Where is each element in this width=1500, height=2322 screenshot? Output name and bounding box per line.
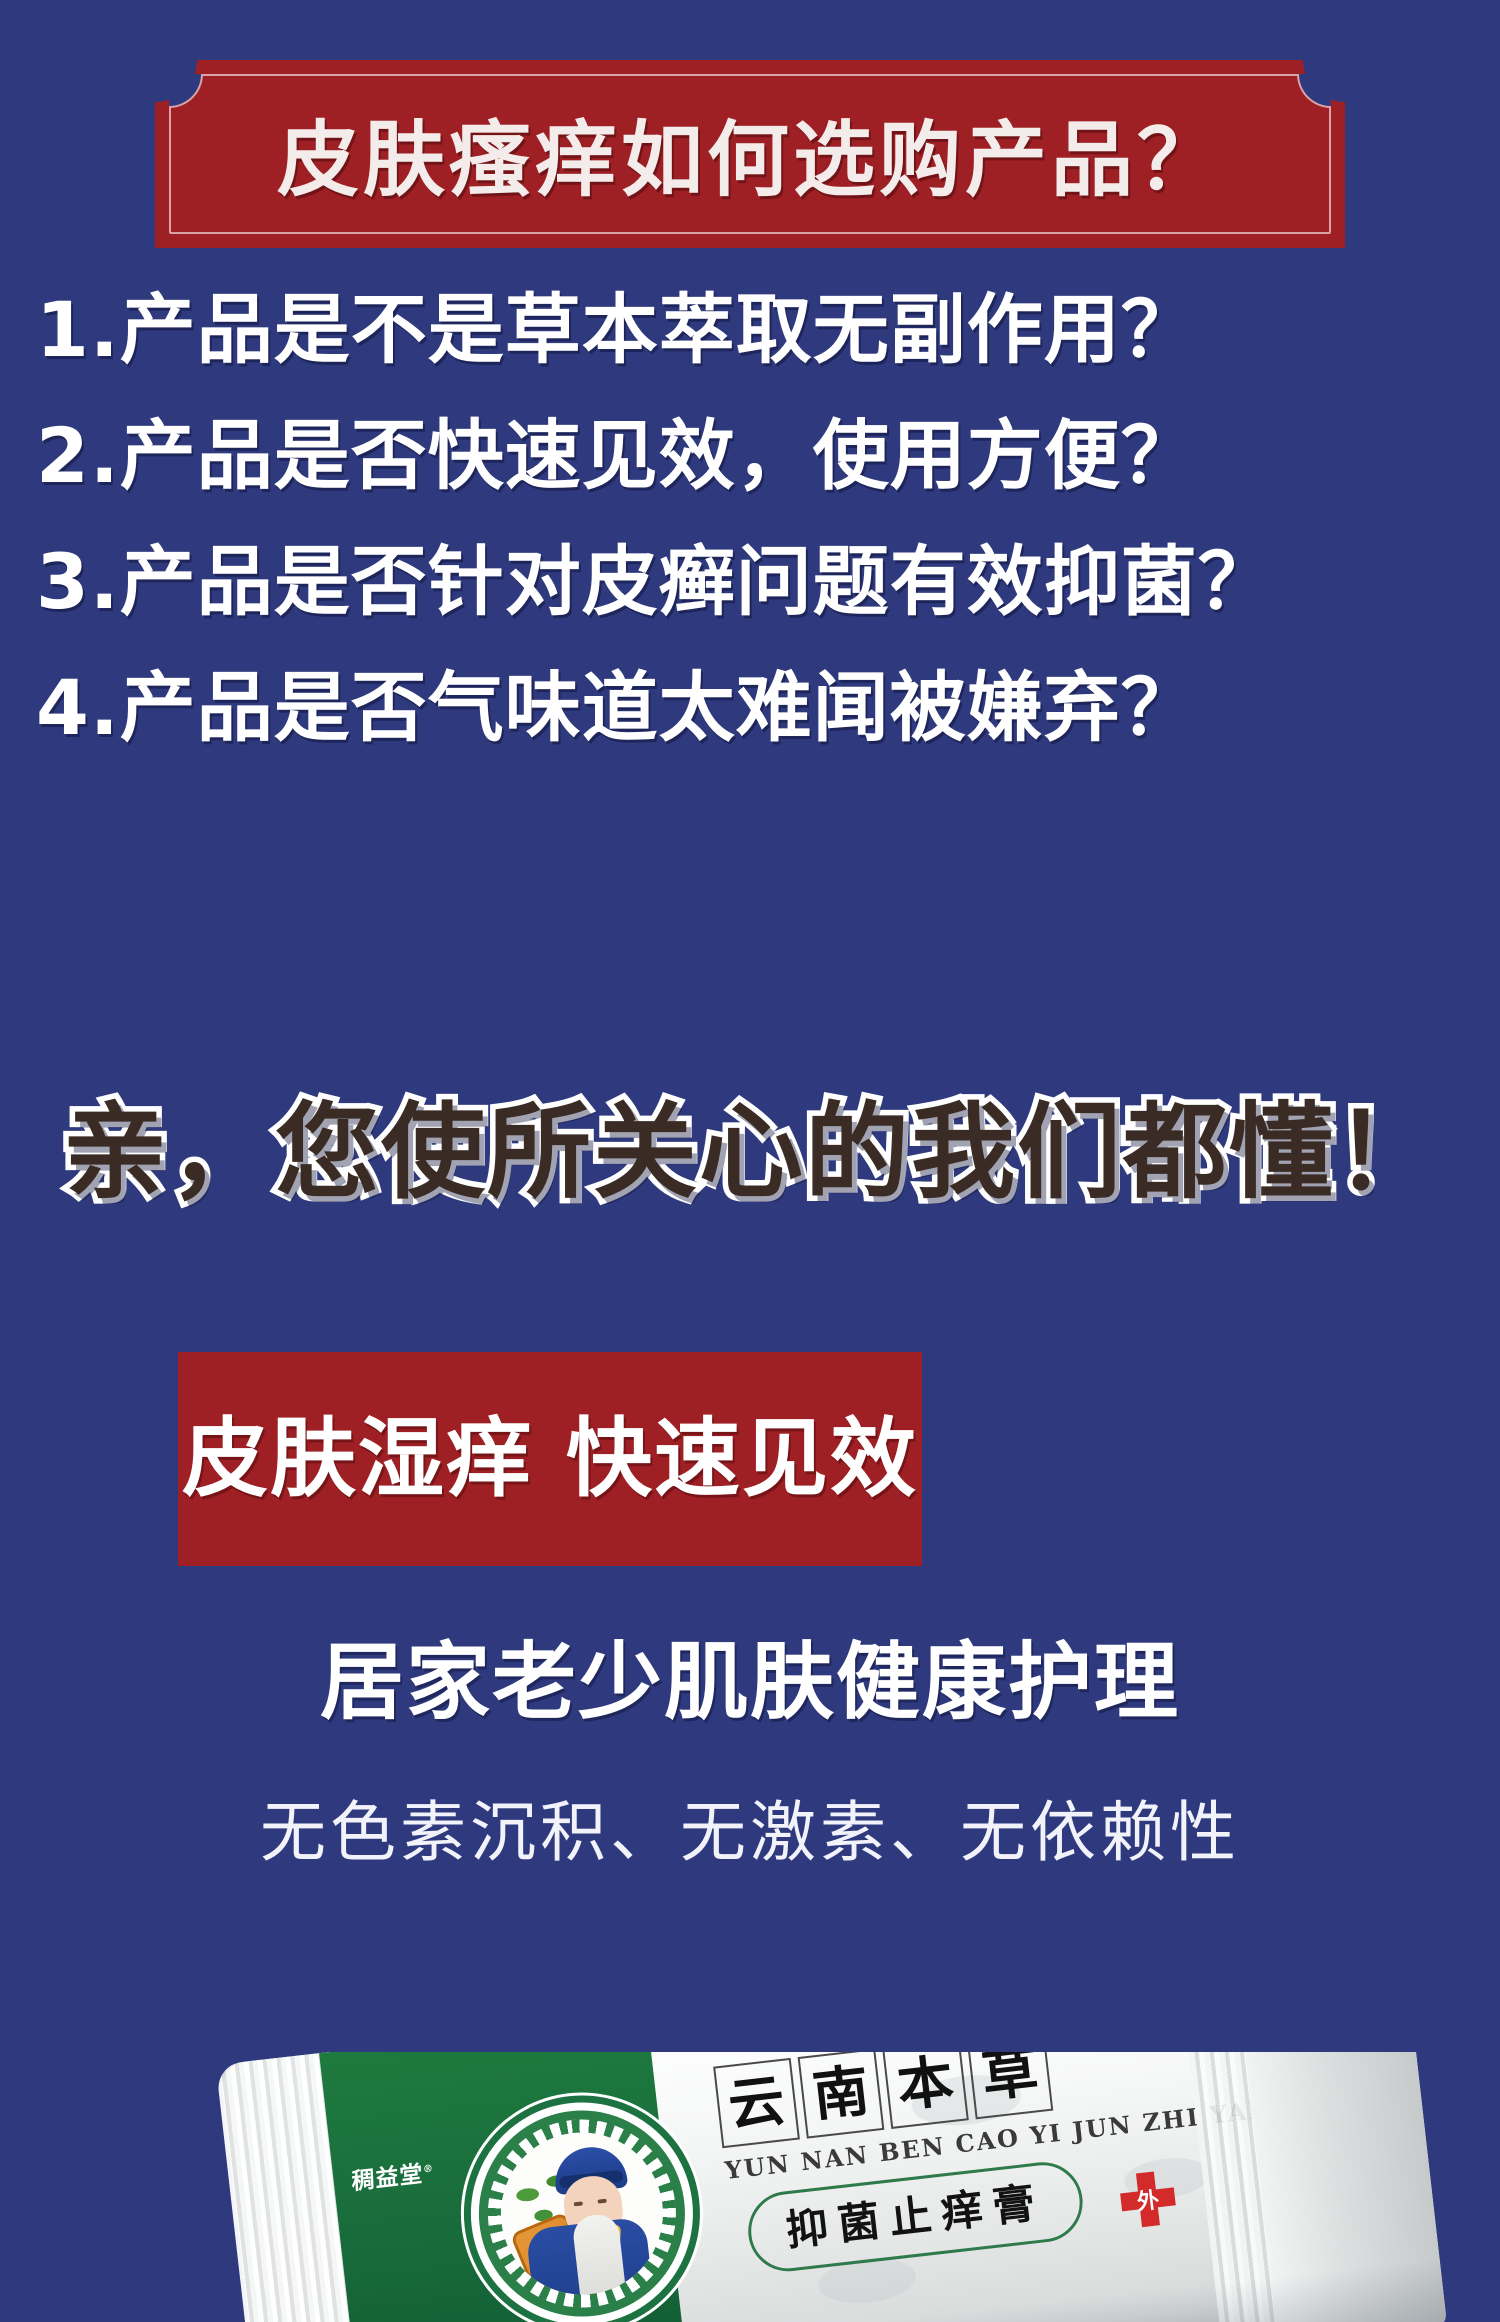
tube-brand-text: 稠益堂 <box>351 2160 424 2195</box>
red-cross-icon: 外 <box>1118 2169 1178 2229</box>
product-tube: 稠益堂® 云 <box>220 2052 1448 2322</box>
tube-name-char-3: 本 <box>882 2052 969 2129</box>
promo-benefits: 无色素沉积、无激素、无依赖性 <box>0 1800 1500 1866</box>
tube-brand-mark: 稠益堂® <box>351 2153 435 2196</box>
question-item-3: 3.产品是否针对皮癣问题有效抑菌？ <box>36 544 1500 620</box>
registered-icon: ® <box>423 2163 434 2175</box>
banner-title-text: 皮肤瘙痒如何选购产品？ <box>155 60 1345 248</box>
question-item-2: 2.产品是否快速见效，使用方便？ <box>36 418 1500 494</box>
tube-name-char-4: 草 <box>966 2052 1053 2119</box>
red-cross-label: 外 <box>1118 2169 1178 2229</box>
tube-subtitle-text: 抑菌止痒膏 <box>784 2181 1047 2252</box>
question-list: 1.产品是不是草本萃取无副作用？ 2.产品是否快速见效，使用方便？ 3.产品是否… <box>36 292 1500 796</box>
tube-name-char-2: 南 <box>798 2052 885 2139</box>
promo-subhead: 居家老少肌肤健康护理 <box>0 1640 1500 1724</box>
question-item-4: 4.产品是否气味道太难闻被嫌弃？ <box>36 670 1500 746</box>
main-headline: 亲，您使所关心的我们都懂！ <box>0 1100 1500 1204</box>
poster-root: 皮肤瘙痒如何选购产品？ 1.产品是不是草本萃取无副作用？ 2.产品是否快速见效，… <box>0 0 1500 2322</box>
header-banner: 皮肤瘙痒如何选购产品？ <box>155 60 1345 248</box>
promo-redbox: 皮肤湿痒 快速见效 <box>178 1352 922 1566</box>
tube-name-char-1: 云 <box>713 2058 800 2148</box>
product-image-area: 稠益堂® 云 <box>0 2052 1500 2322</box>
promo-redbox-text: 皮肤湿痒 快速见效 <box>182 1416 918 1502</box>
tube-green-panel: 稠益堂® <box>319 2052 692 2322</box>
question-item-1: 1.产品是不是草本萃取无副作用？ <box>36 292 1500 368</box>
